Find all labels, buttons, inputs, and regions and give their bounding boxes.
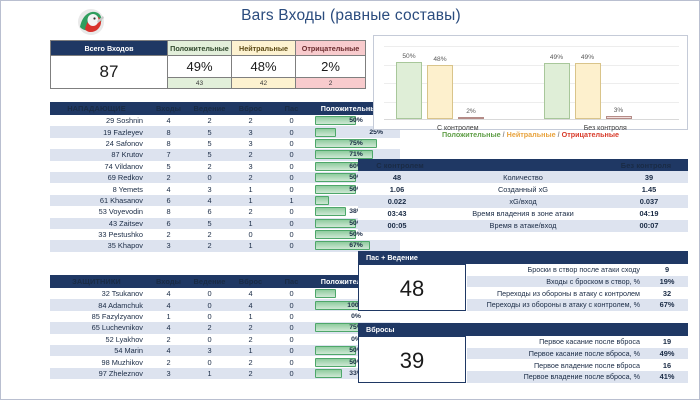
list-item: Первое владение после вброса, %41% [467, 371, 688, 383]
dumpins-metric-label: Первое касание после вброса [467, 337, 646, 346]
pass-carry-title: Пас + Ведение [358, 251, 688, 264]
table-row: 00:05Время в атаке/вход00:07 [358, 220, 688, 232]
player-name: 61 Khasanov [50, 195, 148, 206]
player-pass: 0 [271, 322, 312, 333]
player-entries: 8 [148, 206, 189, 217]
forwards-table: НАПАДАЮЩИЕ Входы Ведение Вброс Пас Полож… [50, 102, 400, 252]
compare-metric-label: Созданный xG [436, 183, 610, 195]
compare-value-with-control: 00:05 [358, 220, 436, 232]
table-row: 0.022xG/вход0.037 [358, 195, 688, 207]
player-dump: 4 [230, 288, 271, 299]
player-carry: 0 [189, 299, 230, 310]
player-carry: 2 [189, 322, 230, 333]
forwards-col-entries: Входы [148, 102, 189, 115]
entries-bar-chart: 50%48%2%С контролем49%49%3%Без контроля [373, 35, 688, 130]
pass-carry-metric-label: Броски в створ после атаки сходу [467, 265, 646, 274]
player-dump: 1 [230, 240, 271, 251]
legend-separator-2: / [558, 130, 560, 139]
player-pass: 0 [271, 311, 312, 322]
summary-table: Всего Входов Положительные Нейтральные О… [50, 40, 366, 89]
list-item: Первое владение после вброса16 [467, 359, 688, 371]
player-pass: 0 [271, 299, 312, 310]
player-pass: 1 [271, 195, 312, 206]
player-carry: 0 [189, 311, 230, 322]
player-name: 32 Tsukanov [50, 288, 148, 299]
player-dump: 1 [230, 195, 271, 206]
table-row: 29 Soshnin422050% [50, 115, 400, 126]
chart-gridline [384, 46, 679, 47]
summary-pct-negative: 2% [296, 56, 366, 78]
player-entries: 6 [148, 218, 189, 229]
compare-metric-label: Время в атаке/вход [436, 220, 610, 232]
table-row: 69 Redkov202050% [50, 172, 400, 183]
positive-pct-label: 67% [315, 241, 397, 250]
player-entries: 4 [148, 345, 189, 356]
table-row: 32 Tsukanov404025% [50, 288, 400, 299]
player-pass: 0 [271, 172, 312, 183]
player-carry: 0 [189, 172, 230, 183]
table-row: 1.06Созданный xG1.45 [358, 183, 688, 195]
list-item: Первое касание после вброса, %49% [467, 348, 688, 360]
player-carry: 3 [189, 183, 230, 194]
dumpins-metric-value: 16 [646, 361, 688, 370]
player-entries: 5 [148, 161, 189, 172]
legend-neutral: Нейтральные [507, 130, 556, 139]
pass-carry-metric-value: 9 [646, 265, 688, 274]
compare-header-without-control: Без контроля [610, 159, 688, 171]
player-carry: 4 [189, 195, 230, 206]
player-pass: 0 [271, 115, 312, 126]
table-row: 19 Fazleyev853025% [50, 126, 400, 137]
player-entries: 8 [148, 138, 189, 149]
player-dump: 4 [230, 299, 271, 310]
player-dump: 3 [230, 138, 271, 149]
pass-carry-metric-label: Переходы из обороны в атаку с контролем [467, 289, 646, 298]
chart-bar-label: 2% [454, 108, 488, 115]
list-item: Броски в створ после атаки сходу9 [467, 264, 688, 276]
positive-pct-label: 0% [315, 312, 397, 321]
legend-positive: Положительные [442, 130, 501, 139]
legend-negative: Отрицательные [562, 130, 619, 139]
player-carry: 0 [189, 288, 230, 299]
player-pass: 0 [271, 138, 312, 149]
player-name: 85 Fazylzyanov [50, 311, 148, 322]
dashboard-page: Bars Входы (равные составы) Всего Входов… [0, 0, 700, 400]
summary-header-positive: Положительные [168, 41, 232, 56]
list-item: Переходы из обороны в атаку с контролем3… [467, 287, 688, 299]
player-positive-pct-cell: 75% [312, 138, 400, 149]
player-carry: 5 [189, 138, 230, 149]
player-name: 87 Krutov [50, 149, 148, 160]
player-entries: 7 [148, 149, 189, 160]
player-pass: 0 [271, 345, 312, 356]
player-carry: 0 [189, 334, 230, 345]
table-row: 33 Pestushko220050% [50, 229, 400, 240]
player-dump: 2 [230, 368, 271, 379]
player-carry: 5 [189, 126, 230, 137]
table-row: 74 Vildanov523060% [50, 161, 400, 172]
player-dump: 2 [230, 115, 271, 126]
pass-carry-metric-value: 32 [646, 289, 688, 298]
player-name: 52 Lyakhov [50, 334, 148, 345]
chart-bar-label: 50% [392, 53, 426, 60]
player-dump: 2 [230, 149, 271, 160]
table-row: 03:43Время владения в зоне атаки04:19 [358, 208, 688, 220]
player-pass: 0 [271, 149, 312, 160]
player-dump: 1 [230, 345, 271, 356]
player-carry: 2 [189, 240, 230, 251]
player-entries: 8 [148, 126, 189, 137]
player-carry: 2 [189, 161, 230, 172]
player-pass: 0 [271, 240, 312, 251]
player-entries: 3 [148, 240, 189, 251]
positive-pct-label: 75% [315, 139, 397, 148]
player-pass: 0 [271, 183, 312, 194]
player-name: 97 Zheleznov [50, 368, 148, 379]
defensemen-title: ЗАЩИТНИКИ [50, 275, 148, 288]
control-comparison-table: С контролем Без контроля 48Количество391… [358, 159, 688, 232]
forwards-col-carry: Ведение [189, 102, 230, 115]
chart-legend: Положительные / Нейтральные / Отрицатель… [373, 130, 688, 139]
player-carry: 6 [189, 206, 230, 217]
dumpins-metric-value: 49% [646, 349, 688, 358]
compare-value-with-control: 03:43 [358, 208, 436, 220]
chart-bar-pos [396, 62, 422, 119]
player-pass: 0 [271, 356, 312, 367]
player-name: 74 Vildanov [50, 161, 148, 172]
player-name: 19 Fazleyev [50, 126, 148, 137]
compare-metric-label: Количество [436, 171, 610, 183]
chart-bar-label: 49% [571, 54, 605, 61]
player-pass: 0 [271, 126, 312, 137]
positive-pct-label: 71% [315, 150, 397, 159]
table-row: 8 Yemets431050% [50, 183, 400, 194]
dumpins-block: Вбросы 39 Первое касание после вброса19П… [358, 323, 688, 383]
player-entries: 4 [148, 322, 189, 333]
player-positive-pct-cell: 0% [312, 311, 400, 322]
player-positive-pct-cell: 67% [312, 240, 400, 251]
player-name: 29 Soshnin [50, 115, 148, 126]
summary-total-value: 87 [51, 56, 168, 89]
player-carry: 5 [189, 149, 230, 160]
pass-carry-rows: Броски в створ после атаки сходу9Входы с… [467, 264, 688, 311]
compare-value-without-control: 1.45 [610, 183, 688, 195]
player-name: 69 Redkov [50, 172, 148, 183]
summary-pct-positive: 49% [168, 56, 232, 78]
player-entries: 1 [148, 311, 189, 322]
player-carry: 2 [189, 229, 230, 240]
dumpins-metric-label: Первое владение после вброса [467, 361, 646, 370]
dumpins-metric-value: 19 [646, 337, 688, 346]
player-dump: 2 [230, 172, 271, 183]
player-name: 33 Pestushko [50, 229, 148, 240]
dumpins-metric-label: Первое владение после вброса, % [467, 372, 646, 381]
chart-bar-pos [544, 63, 570, 119]
summary-header-neutral: Нейтральные [232, 41, 296, 56]
dumpins-rows: Первое касание после вброса19Первое каса… [467, 336, 688, 383]
legend-separator-1: / [503, 130, 505, 139]
chart-bar-label: 3% [602, 107, 636, 114]
compare-value-without-control: 04:19 [610, 208, 688, 220]
player-name: 98 Muzhikov [50, 356, 148, 367]
player-dump: 2 [230, 334, 271, 345]
player-name: 43 Zaitsev [50, 218, 148, 229]
defensemen-col-carry: Ведение [189, 275, 230, 288]
pass-carry-block: Пас + Ведение 48 Броски в створ после ат… [358, 251, 688, 311]
list-item: Переходы из обороны в атаку с контролем,… [467, 299, 688, 311]
chart-bar-neg [606, 116, 632, 119]
table-row: 84 Adamchuk4040100% [50, 299, 400, 310]
player-entries: 2 [148, 334, 189, 345]
dumpins-metric-label: Первое касание после вброса, % [467, 349, 646, 358]
player-carry: 5 [189, 218, 230, 229]
player-entries: 6 [148, 195, 189, 206]
player-entries: 4 [148, 288, 189, 299]
chart-bar-neu [427, 65, 453, 119]
player-name: 65 Luchevnikov [50, 322, 148, 333]
defensemen-rows: 32 Tsukanov404025%84 Adamchuk4040100%85 … [50, 288, 400, 379]
chart-bar-neg [458, 117, 484, 119]
table-row: 65 Luchevnikov422075% [50, 322, 400, 333]
compare-metric-label: Время владения в зоне атаки [436, 208, 610, 220]
player-pass: 0 [271, 218, 312, 229]
player-carry: 3 [189, 345, 230, 356]
forwards-col-dump: Вброс [230, 102, 271, 115]
summary-count-negative: 2 [296, 78, 366, 89]
compare-value-with-control: 48 [358, 171, 436, 183]
player-dump: 2 [230, 356, 271, 367]
player-name: 8 Yemets [50, 183, 148, 194]
table-row: 54 Marin431050% [50, 345, 400, 356]
player-pass: 0 [271, 334, 312, 345]
list-item: Входы с броском в створ, %19% [467, 276, 688, 288]
table-row: 98 Muzhikov202050% [50, 356, 400, 367]
defensemen-col-dump: Вброс [230, 275, 271, 288]
compare-value-without-control: 39 [610, 171, 688, 183]
summary-count-positive: 43 [168, 78, 232, 89]
player-name: 24 Safonov [50, 138, 148, 149]
table-row: 52 Lyakhov20200% [50, 334, 400, 345]
summary-total-header: Всего Входов [51, 41, 168, 56]
compare-header-metric [436, 159, 610, 171]
player-dump: 1 [230, 218, 271, 229]
compare-value-with-control: 0.022 [358, 195, 436, 207]
compare-metric-label: xG/вход [436, 195, 610, 207]
pass-carry-metric-label: Входы с броском в створ, % [467, 277, 646, 286]
table-row: 87 Krutov752071% [50, 149, 400, 160]
table-row: 61 Khasanov641117% [50, 195, 400, 206]
player-entries: 4 [148, 299, 189, 310]
compare-header-with-control: С контролем [358, 159, 436, 171]
table-row: 43 Zaitsev651050% [50, 218, 400, 229]
chart-bar-label: 48% [423, 56, 457, 63]
player-entries: 2 [148, 356, 189, 367]
player-pass: 0 [271, 206, 312, 217]
pass-carry-metric-label: Переходы из обороны в атаку с контролем,… [467, 300, 646, 309]
chart-axis-line [384, 119, 679, 120]
player-name: 53 Voyevodin [50, 206, 148, 217]
player-dump: 3 [230, 126, 271, 137]
player-entries: 4 [148, 183, 189, 194]
table-row: 35 Khapov321067% [50, 240, 400, 251]
dumpins-value: 39 [358, 336, 466, 383]
chart-bar-label: 49% [540, 54, 574, 61]
summary-count-neutral: 42 [232, 78, 296, 89]
player-name: 84 Adamchuk [50, 299, 148, 310]
player-dump: 1 [230, 183, 271, 194]
table-row: 85 Fazylzyanov10100% [50, 311, 400, 322]
pass-carry-metric-value: 19% [646, 277, 688, 286]
player-dump: 2 [230, 206, 271, 217]
player-pass: 0 [271, 161, 312, 172]
table-row: 97 Zheleznov312033% [50, 368, 400, 379]
compare-value-with-control: 1.06 [358, 183, 436, 195]
summary-pct-neutral: 48% [232, 56, 296, 78]
player-entries: 4 [148, 115, 189, 126]
chart-bar-neu [575, 63, 601, 119]
compare-value-without-control: 0.037 [610, 195, 688, 207]
page-title: Bars Входы (равные составы) [1, 7, 700, 25]
defensemen-col-pass: Пас [271, 275, 312, 288]
player-dump: 2 [230, 322, 271, 333]
forwards-col-pass: Пас [271, 102, 312, 115]
player-carry: 0 [189, 356, 230, 367]
player-entries: 3 [148, 368, 189, 379]
compare-value-without-control: 00:07 [610, 220, 688, 232]
dumpins-metric-value: 41% [646, 372, 688, 381]
player-dump: 0 [230, 229, 271, 240]
player-pass: 0 [271, 368, 312, 379]
pass-carry-metric-value: 67% [646, 300, 688, 309]
list-item: Первое касание после вброса19 [467, 336, 688, 348]
summary-header-negative: Отрицательные [296, 41, 366, 56]
table-row: 24 Safonov853075% [50, 138, 400, 149]
player-entries: 2 [148, 172, 189, 183]
compare-rows: 48Количество391.06Созданный xG1.450.022x… [358, 171, 688, 232]
defensemen-col-entries: Входы [148, 275, 189, 288]
player-pass: 0 [271, 229, 312, 240]
table-row: 53 Voyevodin862038% [50, 206, 400, 217]
player-dump: 1 [230, 311, 271, 322]
dumpins-title: Вбросы [358, 323, 688, 336]
pass-carry-value: 48 [358, 264, 466, 311]
forwards-rows: 29 Soshnin422050%19 Fazleyev853025%24 Sa… [50, 115, 400, 252]
player-pass: 0 [271, 288, 312, 299]
player-entries: 2 [148, 229, 189, 240]
player-name: 35 Khapov [50, 240, 148, 251]
defensemen-table: ЗАЩИТНИКИ Входы Ведение Вброс Пас Положи… [50, 275, 400, 379]
forwards-title: НАПАДАЮЩИЕ [50, 102, 148, 115]
player-name: 54 Marin [50, 345, 148, 356]
player-carry: 2 [189, 115, 230, 126]
player-carry: 1 [189, 368, 230, 379]
table-row: 48Количество39 [358, 171, 688, 183]
player-dump: 3 [230, 161, 271, 172]
